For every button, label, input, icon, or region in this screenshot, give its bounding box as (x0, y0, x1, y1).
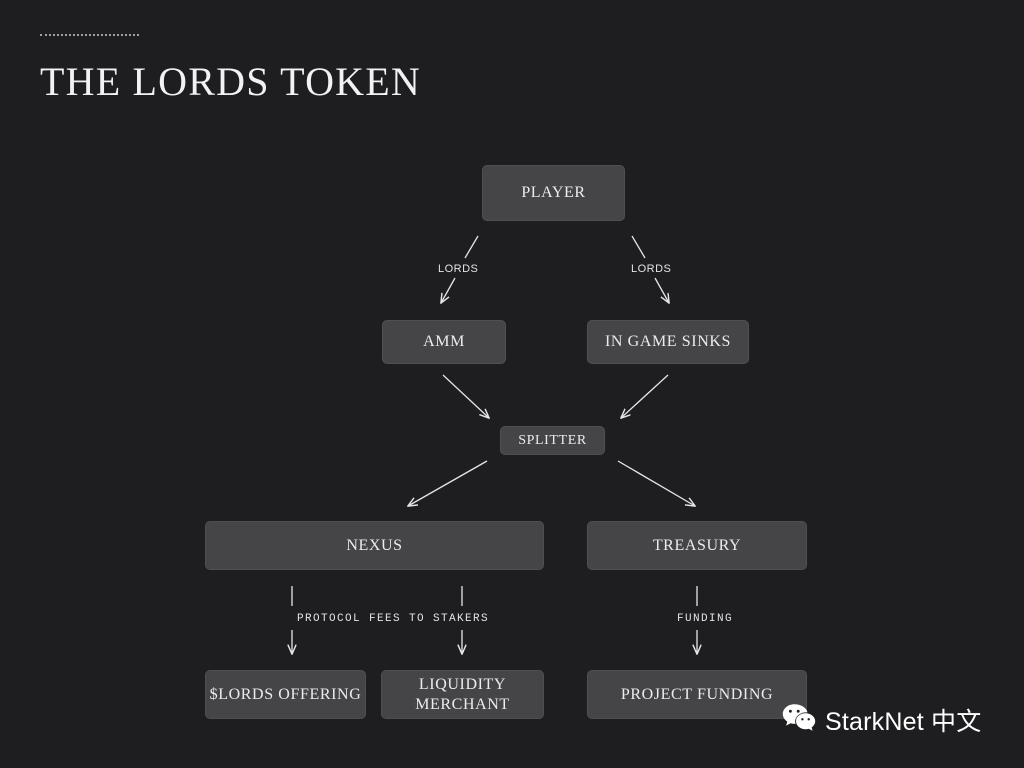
node-liquidity-merchant-label: LIQUIDITYMERCHANT (415, 675, 510, 715)
node-amm[interactable]: AMM (382, 320, 506, 364)
node-player[interactable]: PLAYER (482, 165, 625, 221)
node-in-game-sinks-label: IN GAME SINKS (605, 332, 731, 352)
edge-splitter-to-treasury (618, 461, 695, 506)
edge-amm-to-splitter (443, 375, 489, 418)
wechat-icon (782, 703, 816, 737)
node-lords-offering-label: $LORDS OFFERING (210, 685, 362, 705)
watermark-text: StarkNet 中文 (825, 702, 981, 738)
edge-label-lords-to-amm: LORDS (438, 263, 478, 275)
page-title: THE LORDS TOKEN (40, 58, 421, 105)
node-treasury[interactable]: TREASURY (587, 521, 807, 570)
edge-label-protocol-fees-to-stakers: PROTOCOL FEES TO STAKERS (297, 613, 489, 625)
node-in-game-sinks[interactable]: IN GAME SINKS (587, 320, 749, 364)
edge-splitter-to-nexus (408, 461, 487, 506)
node-lords-offering[interactable]: $LORDS OFFERING (205, 670, 366, 719)
node-project-funding-label: PROJECT FUNDING (621, 685, 773, 705)
edge-in-game-sinks-to-splitter (621, 375, 668, 418)
edge-label-lords-to-in-game-sinks: LORDS (631, 263, 671, 275)
title-dotted-rule (40, 34, 139, 36)
node-project-funding[interactable]: PROJECT FUNDING (587, 670, 807, 719)
node-treasury-label: TREASURY (653, 536, 741, 556)
edge-label-funding: FUNDING (677, 613, 733, 625)
watermark: StarkNet 中文 (782, 702, 981, 738)
node-amm-label: AMM (423, 332, 465, 352)
node-liquidity-merchant[interactable]: LIQUIDITYMERCHANT (381, 670, 544, 719)
node-nexus[interactable]: NEXUS (205, 521, 544, 570)
slide-canvas: THE LORDS TOKEN (0, 0, 1024, 768)
node-nexus-label: NEXUS (346, 536, 402, 556)
node-splitter[interactable]: SPLITTER (500, 426, 605, 455)
diagram-edges (0, 0, 1024, 768)
node-splitter-label: SPLITTER (518, 432, 587, 449)
node-player-label: PLAYER (521, 183, 585, 203)
